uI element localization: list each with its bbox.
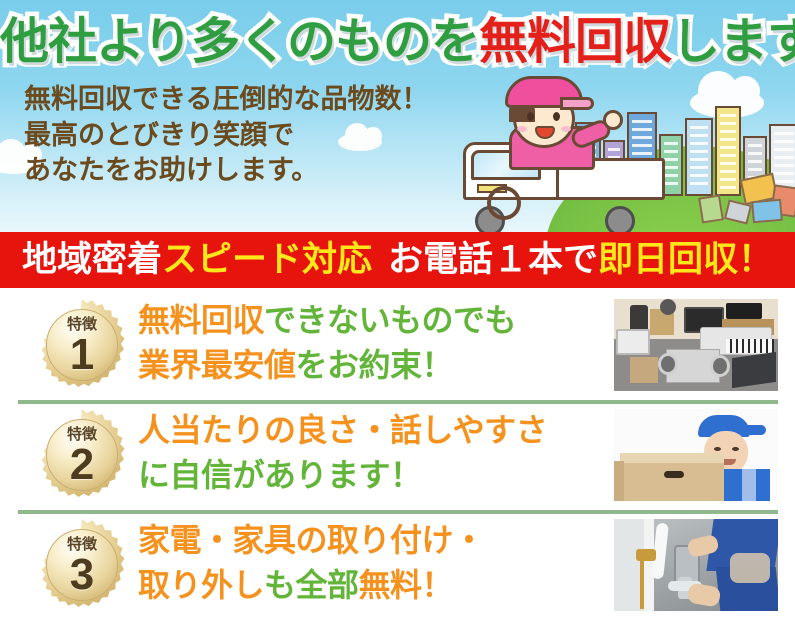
- feature-1-line-1-b: できないものでも: [264, 302, 516, 338]
- feature-3-line-2-b: も全部: [264, 567, 359, 603]
- photo-smiling-staff-with-box: [614, 409, 778, 501]
- feature-row-2: 特徴 2 人当たりの良さ・話しやすさ に自信があります！: [0, 400, 795, 510]
- headline-part-2: 無料回収: [479, 15, 671, 69]
- redbar-segment-1: 地域密着: [22, 240, 162, 279]
- driver-character: [495, 78, 605, 170]
- feature-3-line-2-a: 取り外し: [138, 567, 264, 603]
- badge-number: 2: [36, 439, 128, 491]
- feature-badge-3: 特徴 3: [36, 519, 128, 611]
- feature-row-1: 特徴 1 無料回収できないものでも 業界最安値をお約束！: [0, 290, 795, 400]
- feature-line-1: 無料回収できないものでも: [138, 298, 608, 343]
- badge-number: 1: [36, 329, 128, 381]
- steering-wheel-icon: [487, 186, 521, 220]
- feature-line-1: 人当たりの良さ・話しやすさ: [138, 408, 608, 453]
- feature-line-2: 業界最安値をお約束！: [138, 343, 608, 388]
- feature-badge-2: 特徴 2: [36, 409, 128, 501]
- photo-appliances-pile: [614, 299, 778, 391]
- feature-line-2: に自信があります！: [138, 453, 608, 498]
- feature-text-2: 人当たりの良さ・話しやすさ に自信があります！: [138, 408, 608, 502]
- feature-1-line-2-b: をお約束！: [296, 347, 454, 383]
- red-callout-text: 地域密着スピード対応お電話１本で即日回収！: [0, 232, 795, 288]
- badge-number: 3: [36, 549, 128, 601]
- feature-3-line-2-c: 無料！: [359, 567, 454, 603]
- feature-3-line-1-a: 家電・家具の取り付け・: [138, 522, 485, 558]
- headline-part-1: 他社より多くのものを: [0, 15, 479, 69]
- hero-subcopy: 無料回収できる圧倒的な品物数！ 最高のとびきり笑顔で あなたをお助けします。: [24, 82, 454, 189]
- subcopy-line-3: あなたをお助けします。: [24, 153, 454, 189]
- feature-1-line-1-a: 無料回収: [138, 302, 264, 338]
- subcopy-line-1: 無料回収できる圧倒的な品物数！: [24, 82, 454, 118]
- headline-part-3: します！: [671, 15, 795, 69]
- feature-2-line-2-a: に自信があります！: [138, 457, 422, 493]
- feature-2-line-1-a: 人当たりの良さ・話しやすさ: [138, 412, 547, 448]
- subcopy-line-2: 最高のとびきり笑顔で: [24, 118, 454, 154]
- feature-line-1: 家電・家具の取り付け・: [138, 518, 608, 563]
- photo-washing-machine-hookup: [614, 519, 778, 611]
- feature-badge-1: 特徴 1: [36, 299, 128, 391]
- feature-text-3: 家電・家具の取り付け・ 取り外しも全部無料！: [138, 518, 608, 612]
- feature-row-3: 特徴 3 家電・家具の取り付け・ 取り外しも全部無料！: [0, 510, 795, 620]
- page-title: 他社より多くのものを無料回収します！: [0, 10, 795, 74]
- hero-section: 他社より多くのものを無料回収します！ 無料回収できる圧倒的な品物数！ 最高のとび…: [0, 0, 795, 232]
- redbar-segment-4: 即日回収！: [598, 240, 773, 279]
- redbar-segment-2: スピード対応: [162, 240, 372, 279]
- redbar-segment-3: お電話１本で: [388, 240, 598, 279]
- red-callout-bar: 地域密着スピード対応お電話１本で即日回収！: [0, 232, 795, 288]
- feature-line-2: 取り外しも全部無料！: [138, 563, 608, 608]
- feature-text-1: 無料回収できないものでも 業界最安値をお約束！: [138, 298, 608, 392]
- feature-1-line-2-a: 業界最安値: [138, 347, 296, 383]
- promo-banner: 他社より多くのものを無料回収します！ 無料回収できる圧倒的な品物数！ 最高のとび…: [0, 0, 795, 630]
